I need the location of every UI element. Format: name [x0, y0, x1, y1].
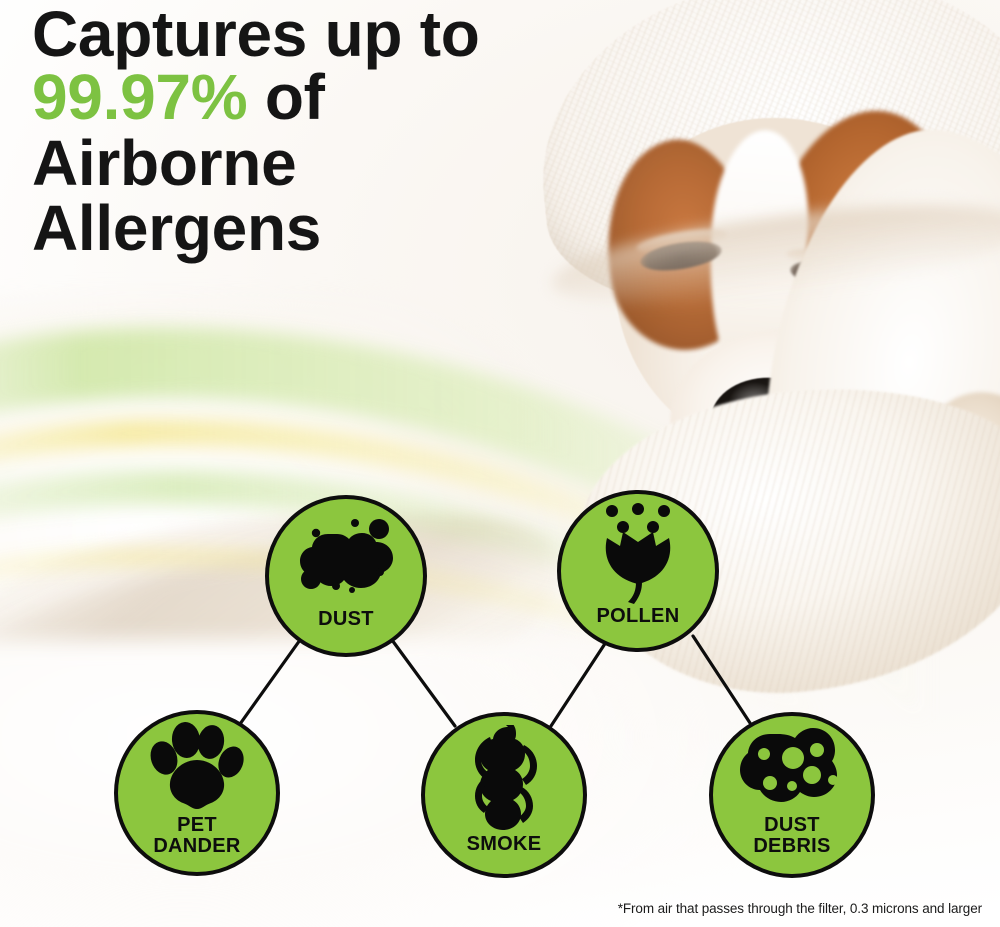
headline-line-2: 99.97% of: [32, 67, 672, 128]
headline-line-4: Allergens: [32, 198, 672, 259]
label-line-1: DUST: [764, 814, 820, 836]
headline-percent-value: 99.97%: [32, 61, 247, 133]
allergen-node-label-dust-debris: DUSTDEBRIS: [713, 815, 871, 874]
headline-line-2-rest: of: [247, 61, 324, 133]
allergen-node-dust-debris[interactable]: DUSTDEBRIS: [709, 712, 875, 878]
allergen-node-label-smoke: SMOKE: [425, 834, 583, 874]
smoke-plume-icon: [425, 716, 583, 834]
footnote-disclaimer: *From air that passes through the filter…: [618, 901, 982, 916]
headline-line-3: Airborne: [32, 133, 672, 194]
allergen-node-pet-dander[interactable]: PETDANDER: [114, 710, 280, 876]
label-line-2: DANDER: [153, 835, 240, 857]
allergen-node-dust[interactable]: DUST: [265, 495, 427, 657]
label-line-2: DEBRIS: [753, 835, 830, 857]
allergen-node-pollen[interactable]: POLLEN: [557, 490, 719, 652]
label-line-1: PET: [177, 814, 217, 836]
paw-print-icon: [118, 714, 276, 815]
dust-cloud-icon: [269, 499, 423, 609]
headline-line-1: Captures up to: [32, 4, 672, 65]
allergen-node-label-pet-dander: PETDANDER: [118, 815, 276, 872]
headline-block: Captures up to 99.97% of Airborne Allerg…: [32, 4, 672, 260]
allergen-node-label-dust: DUST: [269, 609, 423, 653]
dust-debris-icon: [713, 716, 871, 815]
pollen-flower-icon: [561, 494, 715, 606]
allergen-node-label-pollen: POLLEN: [561, 606, 715, 648]
infographic-canvas: Captures up to 99.97% of Airborne Allerg…: [0, 0, 1000, 927]
allergen-node-smoke[interactable]: SMOKE: [421, 712, 587, 878]
